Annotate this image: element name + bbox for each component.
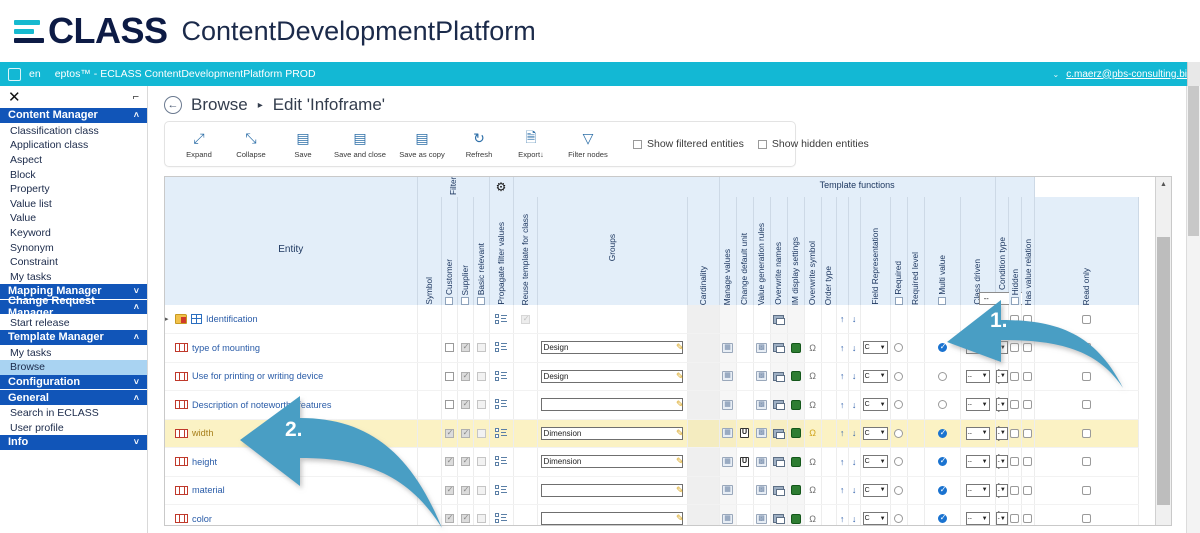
basic-relevant-cell[interactable] xyxy=(473,391,489,420)
column-header-multi-value[interactable]: Multi value xyxy=(924,197,960,305)
expand-button[interactable]: ⤢Expand xyxy=(173,129,225,159)
tree-structure-icon[interactable] xyxy=(495,371,507,382)
column-header-customer[interactable]: Customer xyxy=(441,197,457,305)
order-up-arrow-icon[interactable]: ↑ xyxy=(840,485,845,495)
multi-value-cell[interactable] xyxy=(924,419,960,448)
basic-relevant-cell[interactable] xyxy=(473,476,489,505)
hidden-checkbox[interactable] xyxy=(1010,457,1019,466)
supplier-cell[interactable] xyxy=(457,476,473,505)
condition-type-select[interactable]: --▼ xyxy=(966,341,990,354)
order-down-cell[interactable]: ↓ xyxy=(848,305,860,334)
chevron-down-icon[interactable]: ▼ xyxy=(880,345,886,351)
required-cell[interactable] xyxy=(890,334,907,363)
cardinality-cell[interactable] xyxy=(687,476,719,505)
close-icon[interactable]: ✕ xyxy=(8,90,21,105)
customer-cell[interactable] xyxy=(441,362,457,391)
checkbox-box[interactable] xyxy=(633,140,642,149)
home-icon[interactable] xyxy=(8,68,21,81)
order-down-arrow-icon[interactable]: ↓ xyxy=(852,485,857,495)
field-representation-select[interactable]: C▼ xyxy=(863,484,888,497)
has-value-relation-cell[interactable] xyxy=(1021,334,1034,363)
order-down-arrow-icon[interactable]: ↓ xyxy=(852,314,857,324)
manage-values-icon[interactable]: ▦ xyxy=(722,343,733,353)
edit-pencil-icon[interactable]: ✎ xyxy=(676,485,684,496)
value-generation-rules-icon[interactable]: ▩ xyxy=(756,400,767,410)
multi-value-cell[interactable] xyxy=(924,448,960,477)
hidden-cell[interactable] xyxy=(1008,419,1021,448)
has-value-relation-checkbox[interactable] xyxy=(1023,343,1032,352)
change-default-unit-cell[interactable] xyxy=(736,505,753,526)
field-representation-select[interactable]: C▼ xyxy=(863,427,888,440)
im-display-settings-icon[interactable] xyxy=(791,457,801,467)
groups-cell[interactable]: ✎ xyxy=(537,391,687,420)
row-checkbox[interactable] xyxy=(477,372,486,381)
im-display-settings-cell[interactable] xyxy=(787,334,804,363)
sidebar-group-info[interactable]: Info˅ xyxy=(0,435,147,451)
column-header-checkbox[interactable] xyxy=(445,297,453,305)
order-up-cell[interactable]: ↑ xyxy=(836,505,848,526)
group-input[interactable] xyxy=(541,398,683,411)
sidebar-group-content-manager[interactable]: Content Manager˄ xyxy=(0,108,147,124)
value-generation-rules-icon[interactable]: ▩ xyxy=(756,485,767,495)
row-checkbox[interactable] xyxy=(477,400,486,409)
overwrite-names-icon[interactable] xyxy=(773,486,784,495)
condition-type-select[interactable]: --▼ xyxy=(966,370,990,383)
required-checkbox[interactable] xyxy=(894,400,903,409)
sidebar-group-change-request-manager[interactable]: Change Request Manager˄ xyxy=(0,300,147,316)
entity-cell[interactable]: height xyxy=(165,448,417,477)
condition-type-select[interactable]: --▼ xyxy=(966,484,990,497)
sidebar-group-general[interactable]: General˄ xyxy=(0,390,147,406)
chevron-down-icon[interactable]: ▼ xyxy=(982,459,988,465)
order-up-cell[interactable]: ↑ xyxy=(836,448,848,477)
filter-nodes-button[interactable]: ▽Filter nodes xyxy=(557,129,619,159)
required-checkbox[interactable] xyxy=(894,429,903,438)
chevron-down-icon[interactable]: ▼ xyxy=(1000,430,1006,436)
supplier-cell[interactable] xyxy=(457,448,473,477)
manage-values-icon[interactable]: ▦ xyxy=(722,428,733,438)
order-down-arrow-icon[interactable]: ↓ xyxy=(852,428,857,438)
sidebar-item-user-profile[interactable]: User profile xyxy=(0,420,147,435)
propagate-filter-values-cell[interactable] xyxy=(489,391,513,420)
order-up-cell[interactable]: ↑ xyxy=(836,391,848,420)
row-checkbox[interactable] xyxy=(445,400,454,409)
field-representation-cell[interactable]: C▼ xyxy=(860,334,890,363)
field-representation-cell[interactable]: C▼ xyxy=(860,505,890,526)
row-checkbox[interactable] xyxy=(445,486,454,495)
required-cell[interactable] xyxy=(890,448,907,477)
reuse-template-cell[interactable] xyxy=(513,448,537,477)
edit-pencil-icon[interactable]: ✎ xyxy=(676,399,684,410)
im-display-settings-icon[interactable] xyxy=(791,428,801,438)
propagate-filter-values-cell[interactable] xyxy=(489,419,513,448)
order-down-cell[interactable]: ↓ xyxy=(848,334,860,363)
entity-name[interactable]: Description of noteworthy features xyxy=(192,400,331,410)
hidden-checkbox[interactable] xyxy=(1010,343,1019,352)
field-representation-cell[interactable] xyxy=(860,305,890,334)
chevron-down-icon[interactable]: ▼ xyxy=(1000,345,1006,351)
column-header-required[interactable]: Required xyxy=(890,197,907,305)
order-up-arrow-icon[interactable]: ↑ xyxy=(840,371,845,381)
page-vertical-scrollbar[interactable] xyxy=(1186,86,1200,533)
customer-cell[interactable] xyxy=(441,334,457,363)
tree-structure-icon[interactable] xyxy=(495,513,507,524)
multi-value-cell[interactable] xyxy=(924,362,960,391)
propagate-filter-values-cell[interactable] xyxy=(489,334,513,363)
overwrite-names-icon[interactable] xyxy=(773,429,784,438)
chevron-down-icon[interactable]: ⌄ xyxy=(1053,70,1060,79)
read-only-checkbox[interactable] xyxy=(1082,457,1091,466)
read-only-cell[interactable] xyxy=(1034,505,1138,526)
reuse-template-cell[interactable] xyxy=(513,334,537,363)
has-value-relation-cell[interactable] xyxy=(1021,391,1034,420)
tree-structure-icon[interactable] xyxy=(495,485,507,496)
entity-name[interactable]: Identification xyxy=(206,314,258,324)
has-value-relation-checkbox[interactable] xyxy=(1023,429,1032,438)
multi-value-cell[interactable] xyxy=(924,305,960,334)
overwrite-names-icon[interactable] xyxy=(773,315,784,324)
basic-relevant-cell[interactable] xyxy=(473,505,489,526)
overwrite-symbol-cell[interactable]: Ω xyxy=(804,362,821,391)
unit-icon[interactable]: U xyxy=(740,428,749,438)
manage-values-cell[interactable]: ▦ xyxy=(719,391,736,420)
chevron-down-icon[interactable]: ▼ xyxy=(982,516,988,522)
language-selector[interactable]: en xyxy=(29,68,41,80)
hidden-cell[interactable] xyxy=(1008,476,1021,505)
order-down-cell[interactable]: ↓ xyxy=(848,391,860,420)
multi-value-checkbox[interactable] xyxy=(938,486,947,495)
condition-type-cell[interactable]: --▼ xyxy=(960,505,995,526)
export-button[interactable]: 🗎Export↓ xyxy=(505,129,557,159)
row-checkbox[interactable] xyxy=(477,514,486,523)
cardinality-cell[interactable] xyxy=(687,391,719,420)
row-checkbox[interactable] xyxy=(461,372,470,381)
im-display-settings-icon[interactable] xyxy=(791,400,801,410)
order-type-select-cell[interactable]: ---▼ xyxy=(995,362,1008,391)
chevron-down-icon[interactable]: ▼ xyxy=(1000,487,1006,493)
propagate-filter-values-cell[interactable] xyxy=(489,362,513,391)
has-value-relation-checkbox[interactable] xyxy=(1023,400,1032,409)
chevron-down-icon[interactable]: ▼ xyxy=(1000,373,1006,379)
field-representation-select[interactable]: C▼ xyxy=(863,512,888,525)
manage-values-icon[interactable]: ▦ xyxy=(722,457,733,467)
save-and-close-button[interactable]: ▤Save and close xyxy=(329,129,391,159)
condition-type-cell[interactable]: --▼ xyxy=(960,448,995,477)
back-arrow-icon[interactable]: ← xyxy=(164,96,182,114)
sidebar-item-property[interactable]: Property xyxy=(0,182,147,197)
chevron-down-icon[interactable]: ˅ xyxy=(134,377,139,387)
row-checkbox[interactable] xyxy=(445,457,454,466)
value-generation-rules-cell[interactable]: ▩ xyxy=(753,419,770,448)
overwrite-names-icon[interactable] xyxy=(773,514,784,523)
field-representation-cell[interactable]: C▼ xyxy=(860,419,890,448)
hidden-cell[interactable] xyxy=(1008,505,1021,526)
row-checkbox[interactable] xyxy=(461,400,470,409)
table-row[interactable]: Description of noteworthy features✎▦▩Ω↑↓… xyxy=(165,391,1139,420)
chevron-up-icon[interactable]: ˄ xyxy=(134,332,139,342)
overwrite-names-cell[interactable] xyxy=(770,505,787,526)
edit-pencil-icon[interactable]: ✎ xyxy=(676,456,684,467)
field-representation-cell[interactable]: C▼ xyxy=(860,476,890,505)
has-value-relation-checkbox[interactable] xyxy=(1023,372,1032,381)
row-checkbox[interactable] xyxy=(461,343,470,352)
order-down-cell[interactable]: ↓ xyxy=(848,419,860,448)
row-checkbox[interactable] xyxy=(461,514,470,523)
manage-values-icon[interactable]: ▦ xyxy=(722,371,733,381)
grid-vertical-scrollbar[interactable]: ▲ xyxy=(1155,177,1171,525)
read-only-checkbox[interactable] xyxy=(1082,372,1091,381)
table-row[interactable]: type of mountingDesign✎▦▩Ω↑↓C▼--▼---▼ xyxy=(165,334,1139,363)
required-cell[interactable] xyxy=(890,476,907,505)
has-value-relation-checkbox[interactable] xyxy=(1023,457,1032,466)
row-checkbox[interactable] xyxy=(461,486,470,495)
order-type-select[interactable]: ---▼ xyxy=(996,427,1008,440)
table-row[interactable]: color✎▦▩Ω↑↓C▼--▼---▼ xyxy=(165,505,1139,526)
hidden-cell[interactable] xyxy=(1008,391,1021,420)
overwrite-symbol-icon[interactable]: Ω xyxy=(809,371,816,381)
value-generation-rules-cell[interactable]: ▩ xyxy=(753,505,770,526)
order-up-cell[interactable]: ↑ xyxy=(836,305,848,334)
condition-type-select[interactable]: --▼ xyxy=(966,455,990,468)
value-generation-rules-icon[interactable]: ▩ xyxy=(756,343,767,353)
tree-structure-icon[interactable] xyxy=(495,342,507,353)
entity-name[interactable]: material xyxy=(192,485,225,495)
im-display-settings-icon[interactable] xyxy=(791,343,801,353)
overwrite-names-cell[interactable] xyxy=(770,391,787,420)
chevron-down-icon[interactable]: ▼ xyxy=(880,402,886,408)
value-generation-rules-icon[interactable]: ▩ xyxy=(756,514,767,524)
table-row[interactable]: widthDimension✎▦U▩Ω↑↓C▼--▼---▼ xyxy=(165,419,1139,448)
order-type-select[interactable]: ---▼ xyxy=(996,370,1008,383)
change-default-unit-cell[interactable]: U xyxy=(736,448,753,477)
save-button[interactable]: ▤Save xyxy=(277,129,329,159)
breadcrumb-root[interactable]: Browse xyxy=(191,95,248,115)
overwrite-symbol-cell[interactable]: Ω xyxy=(804,419,821,448)
hidden-cell[interactable] xyxy=(1008,305,1021,334)
overwrite-symbol-cell[interactable]: Ω xyxy=(804,391,821,420)
order-up-cell[interactable]: ↑ xyxy=(836,362,848,391)
overwrite-names-cell[interactable] xyxy=(770,476,787,505)
edit-pencil-icon[interactable]: ✎ xyxy=(676,371,684,382)
has-value-relation-cell[interactable] xyxy=(1021,419,1034,448)
group-input[interactable]: Design xyxy=(541,341,683,354)
chevron-up-icon[interactable]: ˄ xyxy=(134,110,139,120)
customer-cell[interactable] xyxy=(441,448,457,477)
multi-value-checkbox[interactable] xyxy=(938,372,947,381)
required-checkbox[interactable] xyxy=(894,372,903,381)
manage-values-cell[interactable]: ▦ xyxy=(719,476,736,505)
groups-cell[interactable]: Design✎ xyxy=(537,334,687,363)
field-representation-cell[interactable]: C▼ xyxy=(860,448,890,477)
show-hidden-entities-checkbox[interactable]: Show hidden entities xyxy=(758,138,869,150)
sidebar-item-application-class[interactable]: Application class xyxy=(0,138,147,153)
order-down-arrow-icon[interactable]: ↓ xyxy=(852,343,857,353)
overwrite-symbol-icon[interactable]: Ω xyxy=(809,514,816,524)
required-cell[interactable] xyxy=(890,391,907,420)
sidebar-item-value[interactable]: Value xyxy=(0,211,147,226)
change-default-unit-cell[interactable] xyxy=(736,334,753,363)
required-cell[interactable] xyxy=(890,305,907,334)
reuse-template-cell[interactable] xyxy=(513,505,537,526)
entity-cell[interactable]: type of mounting xyxy=(165,334,417,363)
im-display-settings-cell[interactable] xyxy=(787,505,804,526)
im-display-settings-cell[interactable] xyxy=(787,448,804,477)
hidden-checkbox[interactable] xyxy=(1010,514,1019,523)
row-checkbox[interactable] xyxy=(477,343,486,352)
customer-cell[interactable] xyxy=(441,419,457,448)
group-input[interactable] xyxy=(541,512,683,525)
field-representation-cell[interactable]: C▼ xyxy=(860,362,890,391)
scrollbar-thumb[interactable] xyxy=(1157,237,1170,505)
chevron-down-icon[interactable]: ▼ xyxy=(982,345,988,351)
chevron-down-icon[interactable]: ▼ xyxy=(880,459,886,465)
im-display-settings-cell[interactable] xyxy=(787,362,804,391)
chevron-down-icon[interactable]: ▼ xyxy=(982,402,988,408)
has-value-relation-checkbox[interactable] xyxy=(1023,486,1032,495)
has-value-relation-checkbox[interactable] xyxy=(1023,514,1032,523)
hidden-cell[interactable] xyxy=(1008,334,1021,363)
multi-value-checkbox[interactable] xyxy=(938,343,947,352)
row-checkbox[interactable] xyxy=(445,372,454,381)
propagate-filter-values-cell[interactable] xyxy=(489,448,513,477)
groups-cell[interactable]: ✎ xyxy=(537,476,687,505)
collapse-pin-icon[interactable]: ⌐ xyxy=(133,91,139,103)
order-type-select[interactable]: ---▼ xyxy=(996,398,1008,411)
order-up-arrow-icon[interactable]: ↑ xyxy=(840,314,845,324)
multi-value-checkbox[interactable] xyxy=(938,429,947,438)
overwrite-symbol-cell[interactable]: Ω xyxy=(804,448,821,477)
collapse-button[interactable]: ⤡Collapse xyxy=(225,129,277,159)
manage-values-icon[interactable]: ▦ xyxy=(722,485,733,495)
manage-values-cell[interactable]: ▦ xyxy=(719,362,736,391)
value-generation-rules-cell[interactable]: ▩ xyxy=(753,362,770,391)
chevron-down-icon[interactable]: ▼ xyxy=(1000,459,1006,465)
has-value-relation-checkbox[interactable] xyxy=(1023,315,1032,324)
overwrite-names-cell[interactable] xyxy=(770,334,787,363)
overwrite-names-icon[interactable] xyxy=(773,400,784,409)
reuse-template-cell[interactable] xyxy=(513,391,537,420)
sidebar-item-aspect[interactable]: Aspect xyxy=(0,153,147,168)
multi-value-checkbox[interactable] xyxy=(938,514,947,523)
condition-type-cell[interactable]: --▼ xyxy=(960,334,995,363)
overwrite-names-icon[interactable] xyxy=(773,343,784,352)
propagate-filter-values-cell[interactable] xyxy=(489,476,513,505)
order-type-select[interactable]: ---▼ xyxy=(996,512,1008,525)
table-row[interactable]: material✎▦▩Ω↑↓C▼--▼---▼ xyxy=(165,476,1139,505)
chevron-down-icon[interactable]: ▼ xyxy=(880,487,886,493)
groups-cell[interactable] xyxy=(537,305,687,334)
entity-cell[interactable]: Description of noteworthy features xyxy=(165,391,417,420)
sidebar-item-block[interactable]: Block xyxy=(0,167,147,182)
sidebar-group-template-manager[interactable]: Template Manager˄ xyxy=(0,330,147,346)
overwrite-symbol-cell[interactable]: Ω xyxy=(804,505,821,526)
edit-pencil-icon[interactable]: ✎ xyxy=(676,342,684,353)
sidebar-item-my-tasks[interactable]: My tasks xyxy=(0,270,147,285)
groups-cell[interactable]: Dimension✎ xyxy=(537,448,687,477)
entity-name[interactable]: height xyxy=(192,457,217,467)
read-only-cell[interactable] xyxy=(1034,334,1138,363)
basic-relevant-cell[interactable] xyxy=(473,448,489,477)
group-input[interactable]: Dimension xyxy=(541,427,683,440)
column-header-hidden[interactable]: Hidden xyxy=(1008,197,1021,305)
im-display-settings-cell[interactable] xyxy=(787,391,804,420)
sidebar-group-configuration[interactable]: Configuration˅ xyxy=(0,375,147,391)
basic-relevant-cell[interactable] xyxy=(473,419,489,448)
groups-cell[interactable]: Design✎ xyxy=(537,362,687,391)
multi-value-cell[interactable] xyxy=(924,505,960,526)
hidden-checkbox[interactable] xyxy=(1010,429,1019,438)
required-checkbox[interactable] xyxy=(894,343,903,352)
read-only-cell[interactable] xyxy=(1034,448,1138,477)
column-header-checkbox[interactable] xyxy=(477,297,485,305)
propagate-filter-values-cell[interactable] xyxy=(489,305,513,334)
entity-name[interactable]: Use for printing or writing device xyxy=(192,371,323,381)
row-checkbox[interactable] xyxy=(461,429,470,438)
change-default-unit-cell[interactable] xyxy=(736,476,753,505)
overwrite-symbol-cell[interactable]: Ω xyxy=(804,334,821,363)
condition-type-select[interactable]: --▼ xyxy=(966,398,990,411)
chevron-down-icon[interactable]: ▼ xyxy=(880,516,886,522)
sidebar-item-keyword[interactable]: Keyword xyxy=(0,226,147,241)
chevron-down-icon[interactable]: ▼ xyxy=(880,430,886,436)
manage-values-cell[interactable]: ▦ xyxy=(719,448,736,477)
manage-values-icon[interactable]: ▦ xyxy=(722,514,733,524)
column-header-checkbox[interactable] xyxy=(938,297,946,305)
reuse-template-checkbox[interactable] xyxy=(521,315,530,324)
chevron-down-icon[interactable]: ▼ xyxy=(1000,402,1006,408)
field-representation-select[interactable]: C▼ xyxy=(863,341,888,354)
tree-structure-icon[interactable] xyxy=(495,428,507,439)
multi-value-checkbox[interactable] xyxy=(938,457,947,466)
overwrite-symbol-icon[interactable]: Ω xyxy=(809,485,816,495)
order-down-arrow-icon[interactable]: ↓ xyxy=(852,371,857,381)
order-down-arrow-icon[interactable]: ↓ xyxy=(852,400,857,410)
column-header-basic-relevant[interactable]: Basic relevant xyxy=(473,197,489,305)
customer-cell[interactable] xyxy=(441,505,457,526)
show-filtered-entities-checkbox[interactable]: Show filtered entities xyxy=(633,138,744,150)
gear-icon[interactable]: ⚙ xyxy=(496,180,507,194)
hidden-cell[interactable] xyxy=(1008,448,1021,477)
required-cell[interactable] xyxy=(890,419,907,448)
customer-cell[interactable] xyxy=(441,391,457,420)
sidebar-item-my-tasks[interactable]: My tasks xyxy=(0,346,147,361)
chevron-up-icon[interactable]: ˄ xyxy=(134,393,139,403)
read-only-checkbox[interactable] xyxy=(1082,343,1091,352)
expand-arrow-icon[interactable]: ▸ xyxy=(165,315,171,323)
read-only-checkbox[interactable] xyxy=(1082,514,1091,523)
entity-name[interactable]: type of mounting xyxy=(192,343,260,353)
table-row[interactable]: Use for printing or writing deviceDesign… xyxy=(165,362,1139,391)
read-only-checkbox[interactable] xyxy=(1082,315,1091,324)
multi-value-cell[interactable] xyxy=(924,334,960,363)
read-only-cell[interactable] xyxy=(1034,305,1138,334)
required-checkbox[interactable] xyxy=(894,486,903,495)
basic-relevant-cell[interactable] xyxy=(473,362,489,391)
group-input[interactable] xyxy=(541,484,683,497)
groups-cell[interactable]: Dimension✎ xyxy=(537,419,687,448)
row-checkbox[interactable] xyxy=(445,514,454,523)
row-checkbox[interactable] xyxy=(445,429,454,438)
supplier-cell[interactable] xyxy=(457,391,473,420)
unit-icon[interactable]: U xyxy=(740,457,749,467)
hidden-checkbox[interactable] xyxy=(1010,486,1019,495)
entity-cell[interactable]: color xyxy=(165,505,417,526)
overwrite-names-cell[interactable] xyxy=(770,305,787,334)
change-default-unit-cell[interactable]: U xyxy=(736,419,753,448)
manage-values-cell[interactable]: ▦ xyxy=(719,334,736,363)
value-generation-rules-cell[interactable]: ▩ xyxy=(753,391,770,420)
condition-type-select[interactable]: --▼ xyxy=(966,427,990,440)
